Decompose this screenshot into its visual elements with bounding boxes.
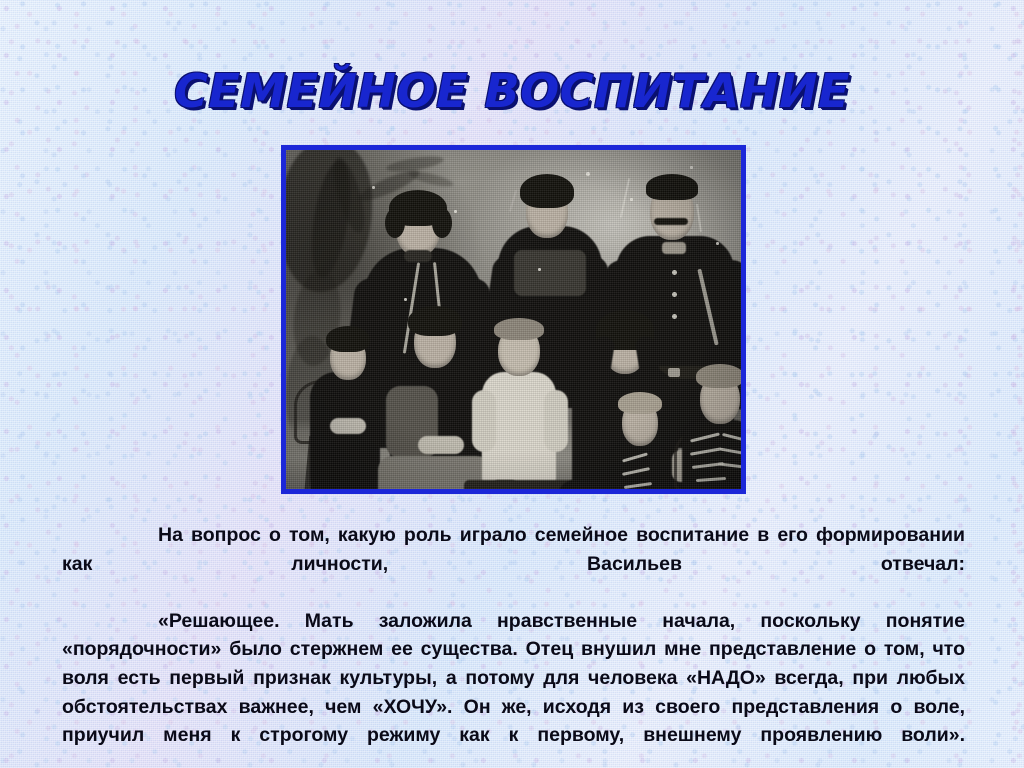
paragraph-2: «Решающее. Мать заложила нравственные на… bbox=[62, 607, 965, 768]
family-photograph-frame bbox=[281, 145, 746, 494]
slide: СЕМЕЙНОЕ ВОСПИТАНИЕ bbox=[0, 0, 1024, 768]
family-photograph bbox=[286, 150, 741, 489]
page-title: СЕМЕЙНОЕ ВОСПИТАНИЕ bbox=[0, 64, 1024, 118]
body-text: На вопрос о том, какую роль играло семей… bbox=[62, 521, 965, 768]
paragraph-1: На вопрос о том, какую роль играло семей… bbox=[62, 521, 965, 607]
